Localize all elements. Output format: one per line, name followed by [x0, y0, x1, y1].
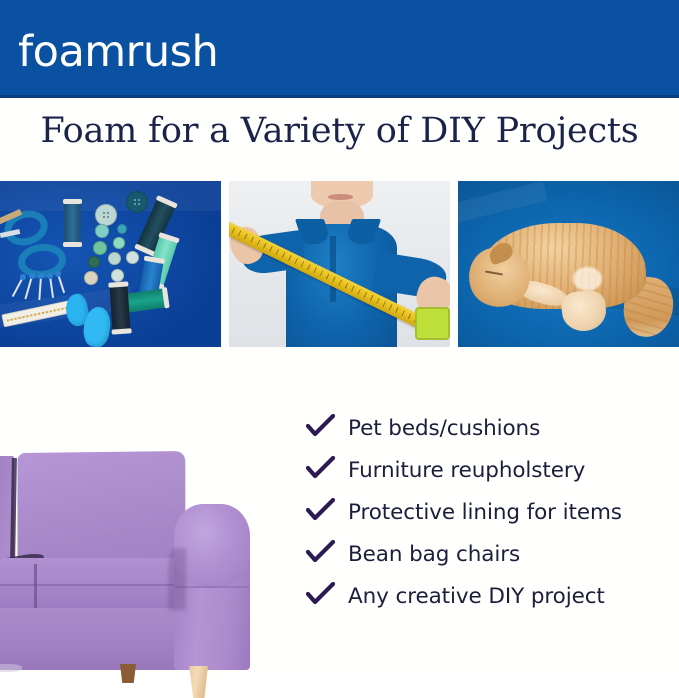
lips [328, 194, 352, 200]
tape-measure-photo [229, 181, 450, 347]
check-icon [306, 498, 348, 528]
photo-row [0, 181, 679, 347]
page-headline: Foam for a Variety of DIY Projects [0, 108, 679, 154]
sofa-back-cushion-right [18, 451, 186, 571]
sofa-seat-divider [34, 564, 37, 612]
list-item-label: Any creative DIY project [348, 584, 605, 610]
benefits-list: Pet beds/cushions Furniture reupholstery… [306, 408, 666, 618]
thread-spool [109, 283, 130, 332]
cat-cushion-photo [458, 181, 679, 347]
button-disc [113, 237, 125, 249]
cushion-fold [458, 181, 547, 227]
tape-measure-case [415, 307, 450, 340]
list-item: Furniture reupholstery [306, 450, 666, 492]
sewing-supplies-photo [0, 181, 221, 347]
check-icon [306, 414, 348, 444]
list-item: Bean bag chairs [306, 534, 666, 576]
button-disc [95, 204, 117, 226]
check-icon [306, 540, 348, 570]
sofa-leg-front [188, 666, 208, 698]
brand-logo: foamrush [18, 28, 218, 76]
list-item: Protective lining for items [306, 492, 666, 534]
header-banner: foamrush [0, 0, 679, 98]
list-item: Any creative DIY project [306, 576, 666, 618]
sofa-leg-rear [120, 664, 136, 683]
button-disc [95, 224, 109, 238]
button-disc [108, 252, 121, 265]
sofa-arm-seam [175, 586, 249, 588]
cat-paw [560, 288, 608, 332]
button-disc [93, 241, 107, 255]
check-icon [306, 582, 348, 612]
check-icon [306, 456, 348, 486]
list-item: Pet beds/cushions [306, 408, 666, 450]
button-disc [126, 191, 148, 213]
list-item-label: Pet beds/cushions [348, 416, 540, 442]
list-item-label: Protective lining for items [348, 500, 622, 526]
shirt-placket [330, 236, 337, 302]
list-item-label: Bean bag chairs [348, 542, 520, 568]
list-item-label: Furniture reupholstery [348, 458, 585, 484]
sofa-foot-shadow [0, 664, 22, 672]
sofa-illustration [0, 452, 262, 679]
button-disc [88, 256, 100, 268]
button-disc [84, 271, 98, 285]
sofa-cushion-gap [10, 458, 17, 562]
cat-fur-patch [573, 267, 602, 290]
thread-spool [64, 201, 81, 245]
button-disc [111, 269, 124, 282]
button-disc [117, 224, 127, 234]
button-disc [126, 251, 139, 264]
sofa-arm-shadow [168, 548, 186, 610]
